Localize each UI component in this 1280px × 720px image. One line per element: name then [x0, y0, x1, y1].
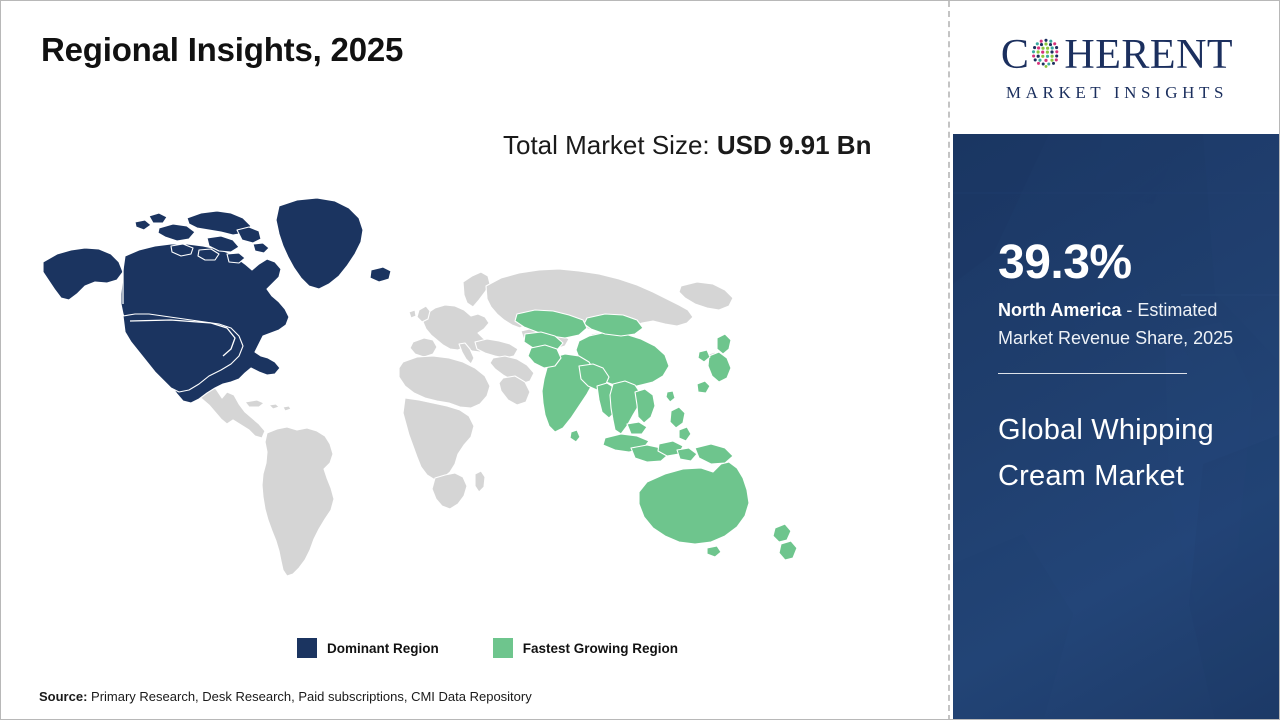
logo-wordmark-row: C	[1001, 32, 1233, 78]
left-panel: Regional Insights, 2025 Total Market Siz…	[1, 1, 949, 720]
market-name: Global Whipping Cream Market	[998, 408, 1260, 500]
logo-wordmark-rest: HERENT	[1064, 34, 1233, 76]
source-label: Source:	[39, 689, 87, 704]
dotted-globe-icon	[1029, 36, 1063, 75]
market-size-label: Total Market Size:	[503, 130, 717, 160]
share-percent: 39.3%	[998, 239, 1260, 287]
map-region-asia-pacific	[515, 310, 797, 560]
world-map-svg	[31, 186, 841, 616]
legend-item-dominant: Dominant Region	[297, 638, 439, 658]
vertical-dashed-divider	[948, 1, 950, 720]
source-text: Primary Research, Desk Research, Paid su…	[87, 689, 531, 704]
map-region-north-america	[43, 198, 391, 403]
brand-logo: C	[953, 1, 1280, 134]
map-legend: Dominant Region Fastest Growing Region	[297, 638, 678, 658]
info-panel: 39.3% North America - Estimated Market R…	[953, 134, 1280, 720]
regional-insights-infographic: Regional Insights, 2025 Total Market Siz…	[0, 0, 1280, 720]
total-market-size: Total Market Size: USD 9.91 Bn	[503, 127, 893, 165]
logo-letter-c: C	[1001, 34, 1030, 76]
legend-swatch-fastest-growing	[493, 638, 513, 658]
share-description: North America - Estimated Market Revenue…	[998, 296, 1260, 353]
legend-label-dominant: Dominant Region	[327, 641, 439, 656]
info-divider	[998, 373, 1187, 374]
legend-swatch-dominant	[297, 638, 317, 658]
market-size-value: USD 9.91 Bn	[717, 130, 872, 160]
logo-tagline: MARKET INSIGHTS	[1006, 83, 1228, 103]
legend-item-fastest-growing: Fastest Growing Region	[493, 638, 678, 658]
source-line: Source: Primary Research, Desk Research,…	[39, 689, 532, 704]
world-map	[31, 186, 841, 616]
share-region-name: North America	[998, 300, 1121, 320]
page-title: Regional Insights, 2025	[41, 31, 403, 69]
info-content: 39.3% North America - Estimated Market R…	[998, 239, 1260, 500]
legend-label-fastest-growing: Fastest Growing Region	[523, 641, 678, 656]
